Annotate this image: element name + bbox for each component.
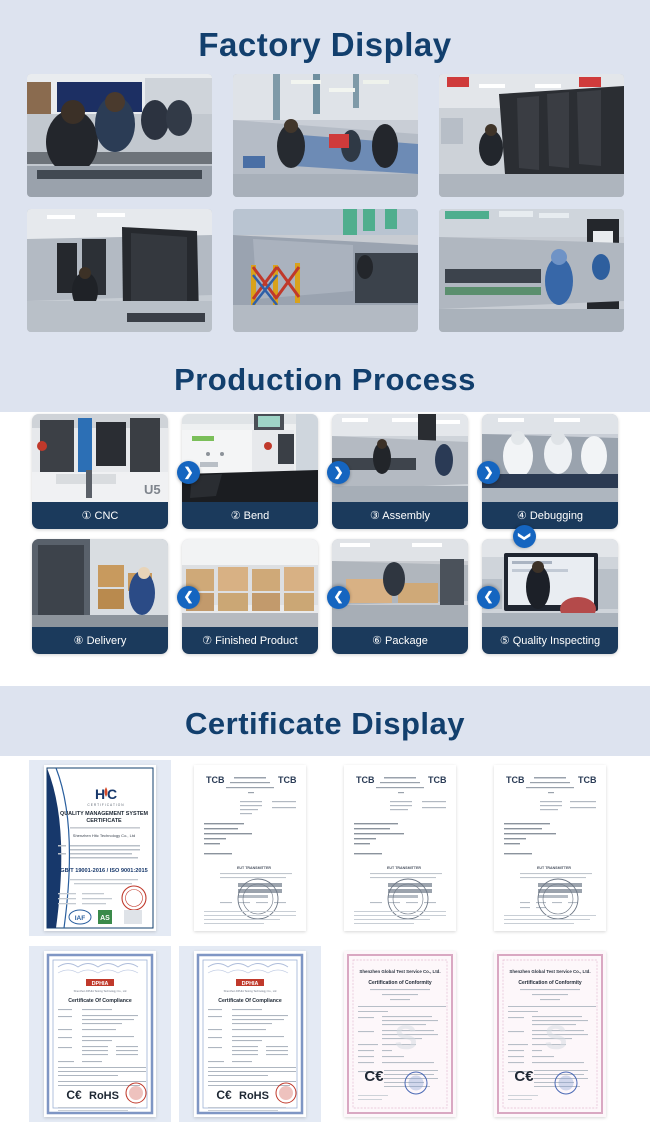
certificate-grid: H C CERTIFICATION QUALITY MANAGEMENT SYS… <box>0 760 650 1122</box>
svg-text:C€: C€ <box>216 1088 232 1102</box>
svg-text:QUALITY MANAGEMENT SYSTEM: QUALITY MANAGEMENT SYSTEM <box>60 811 148 817</box>
svg-text:IAF: IAF <box>75 915 86 922</box>
certificate-paper-dphia-1: DPHIA Shenzhen DPHIA Testing Technology … <box>44 951 156 1117</box>
page-root: Factory Display <box>0 0 650 1132</box>
svg-text:S: S <box>545 1019 568 1057</box>
process-step-delivery-image <box>32 539 168 627</box>
certificate-paper-gts-2: Shenzhen Global Test Service Co., Ltd. C… <box>494 951 606 1117</box>
process-step-assembly-label: ③ Assembly <box>332 502 468 529</box>
factory-photo-1[interactable] <box>27 74 212 197</box>
process-step-finished-product-label: ⑦ Finished Product <box>182 627 318 654</box>
factory-photo-3[interactable] <box>439 74 624 197</box>
svg-text:EUT TRANSMITTER: EUT TRANSMITTER <box>237 866 271 870</box>
factory-display-heading: Factory Display <box>0 0 650 74</box>
certificate-item-tcb-1[interactable]: TCB TCB <box>179 760 321 936</box>
certificate-item-tcb-2[interactable]: TCB TCB <box>329 760 471 936</box>
process-step-package[interactable]: ⑥ Package <box>332 539 468 654</box>
svg-text:DPHIA: DPHIA <box>242 981 259 987</box>
certificate-paper-tcb-1: TCB TCB <box>194 765 306 931</box>
certificate-paper-tcb-3: TCB TCB <box>494 765 606 931</box>
factory-photo-5[interactable] <box>233 209 418 332</box>
process-step-package-image <box>332 539 468 627</box>
process-step-debugging-label: ④ Debugging <box>482 502 618 529</box>
svg-text:RoHS: RoHS <box>239 1090 269 1102</box>
process-step-assembly-image <box>332 414 468 502</box>
svg-text:TCB: TCB <box>278 775 297 785</box>
svg-text:CERTIFICATE: CERTIFICATE <box>86 818 122 824</box>
svg-text:C: C <box>107 786 117 802</box>
process-step-assembly[interactable]: ③ Assembly <box>332 414 468 529</box>
svg-text:EUT TRANSMITTER: EUT TRANSMITTER <box>387 866 421 870</box>
svg-text:RoHS: RoHS <box>89 1090 119 1102</box>
svg-text:Shenzhen DPHIA Testing Technol: Shenzhen DPHIA Testing Technology Co., L… <box>224 989 277 993</box>
svg-text:TCB: TCB <box>206 775 225 785</box>
svg-text:Shenzhen Hitc Technology Co.,: Shenzhen Hitc Technology Co., Ltd <box>73 833 135 838</box>
certificate-paper-tcb-2: TCB TCB <box>344 765 456 931</box>
certificate-item-gts-2[interactable]: Shenzhen Global Test Service Co., Ltd. C… <box>479 946 621 1122</box>
production-process-heading: Production Process <box>0 348 650 412</box>
svg-text:Certification of Conformity: Certification of Conformity <box>518 980 582 986</box>
svg-text:Shenzhen Global Test Service C: Shenzhen Global Test Service Co., Ltd. <box>359 969 440 974</box>
certificate-paper-iso9001: H C CERTIFICATION QUALITY MANAGEMENT SYS… <box>44 765 156 931</box>
process-step-bend-label: ② Bend <box>182 502 318 529</box>
arrow-right-icon-1[interactable]: ❯ <box>177 461 200 484</box>
factory-display-section: Factory Display <box>0 0 650 412</box>
process-step-debugging[interactable]: ④ Debugging <box>482 414 618 529</box>
svg-text:Certificate Of Compliance: Certificate Of Compliance <box>218 998 282 1004</box>
process-step-cnc-image: U5 <box>32 414 168 502</box>
svg-text:Certification of Conformity: Certification of Conformity <box>368 980 432 986</box>
svg-text:TCB: TCB <box>428 775 447 785</box>
svg-text:TCB: TCB <box>578 775 597 785</box>
certificate-display-heading: Certificate Display <box>0 686 650 756</box>
process-row-2: ❯ ⑧ Delivery <box>0 539 650 654</box>
process-step-cnc[interactable]: U5 ① CNC <box>32 414 168 529</box>
svg-text:U5: U5 <box>144 482 161 497</box>
svg-text:GB/T 19001-2016 / ISO 9001:201: GB/T 19001-2016 / ISO 9001:2015 <box>60 868 147 874</box>
svg-text:H: H <box>95 786 105 802</box>
svg-text:C€: C€ <box>364 1068 384 1085</box>
svg-text:Shenzhen DPHIA Testing Technol: Shenzhen DPHIA Testing Technology Co., L… <box>74 989 127 993</box>
svg-text:S: S <box>395 1019 418 1057</box>
process-step-cnc-label: ① CNC <box>32 502 168 529</box>
process-step-finished-product-image <box>182 539 318 627</box>
process-row-1: U5 ① CNC <box>0 414 650 529</box>
svg-text:Certificate Of Compliance: Certificate Of Compliance <box>68 998 132 1004</box>
process-step-delivery[interactable]: ⑧ Delivery <box>32 539 168 654</box>
factory-photo-4[interactable] <box>27 209 212 332</box>
certificate-item-tcb-3[interactable]: TCB TCB <box>479 760 621 936</box>
process-step-bend-image <box>182 414 318 502</box>
arrow-left-icon-3[interactable]: ❯ <box>477 586 500 609</box>
svg-text:EUT TRANSMITTER: EUT TRANSMITTER <box>537 866 571 870</box>
arrow-right-icon-3[interactable]: ❯ <box>477 461 500 484</box>
production-process-section: U5 ① CNC <box>0 412 650 686</box>
process-step-quality-inspecting-image <box>482 539 618 627</box>
certificate-item-iso9001[interactable]: H C CERTIFICATION QUALITY MANAGEMENT SYS… <box>29 760 171 936</box>
certificate-paper-dphia-2: DPHIA Shenzhen DPHIA Testing Technology … <box>194 951 306 1117</box>
certificate-item-gts-1[interactable]: Shenzhen Global Test Service Co., Ltd. C… <box>329 946 471 1122</box>
certificate-item-dphia-1[interactable]: DPHIA Shenzhen DPHIA Testing Technology … <box>29 946 171 1122</box>
process-step-bend[interactable]: ② Bend <box>182 414 318 529</box>
certificate-display-section: H C CERTIFICATION QUALITY MANAGEMENT SYS… <box>0 756 650 1132</box>
svg-text:C€: C€ <box>514 1068 534 1085</box>
arrow-down-icon[interactable]: ❯ <box>513 525 536 548</box>
process-step-quality-inspecting-label: ⑤ Quality Inspecting <box>482 627 618 654</box>
process-step-quality-inspecting[interactable]: ⑤ Quality Inspecting <box>482 539 618 654</box>
factory-photo-grid <box>0 74 650 348</box>
svg-text:TCB: TCB <box>506 775 525 785</box>
arrow-left-icon-1[interactable]: ❯ <box>177 586 200 609</box>
certificate-display-heading-band: Certificate Display <box>0 686 650 756</box>
svg-text:DPHIA: DPHIA <box>92 981 109 987</box>
process-step-debugging-image <box>482 414 618 502</box>
process-step-delivery-label: ⑧ Delivery <box>32 627 168 654</box>
arrow-right-icon-2[interactable]: ❯ <box>327 461 350 484</box>
factory-photo-2[interactable] <box>233 74 418 197</box>
svg-text:AS: AS <box>100 915 110 922</box>
svg-text:C€: C€ <box>66 1088 82 1102</box>
svg-text:TCB: TCB <box>356 775 375 785</box>
arrow-left-icon-2[interactable]: ❯ <box>327 586 350 609</box>
process-step-package-label: ⑥ Package <box>332 627 468 654</box>
certificate-item-dphia-2[interactable]: DPHIA Shenzhen DPHIA Testing Technology … <box>179 946 321 1122</box>
process-step-finished-product[interactable]: ⑦ Finished Product <box>182 539 318 654</box>
factory-photo-6[interactable] <box>439 209 624 332</box>
certificate-paper-gts-1: Shenzhen Global Test Service Co., Ltd. C… <box>344 951 456 1117</box>
svg-text:CERTIFICATION: CERTIFICATION <box>87 803 124 807</box>
svg-text:Shenzhen Global Test Service C: Shenzhen Global Test Service Co., Ltd. <box>509 969 590 974</box>
